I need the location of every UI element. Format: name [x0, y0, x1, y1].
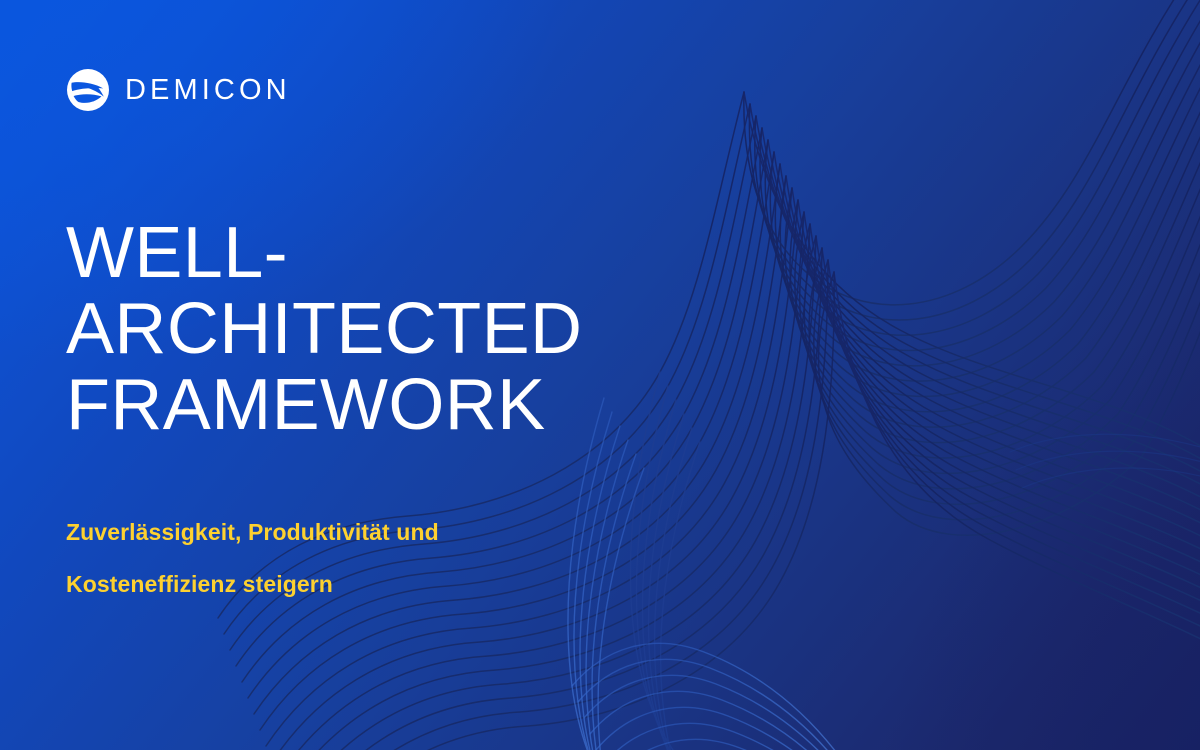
- demicon-circle-arrow-logo-icon: [66, 68, 110, 112]
- brand-wordmark: DEMICON: [125, 76, 291, 105]
- title-slide: DEMICON WELL- ARCHITECTED FRAMEWORK Zuve…: [0, 0, 1200, 750]
- slide-title: WELL- ARCHITECTED FRAMEWORK: [66, 216, 686, 444]
- slide-subtitle: Zuverlässigkeit, Produktivität und Koste…: [66, 506, 666, 611]
- slide-subtitle-line-2: Kosteneffizienz steigern: [66, 558, 666, 610]
- slide-title-line-3: FRAMEWORK: [66, 368, 686, 444]
- slide-subtitle-line-1: Zuverlässigkeit, Produktivität und: [66, 506, 666, 558]
- slide-title-line-2: ARCHITECTED: [66, 292, 686, 368]
- slide-title-line-1: WELL-: [66, 216, 686, 292]
- brand-logo-lockup: DEMICON: [66, 68, 291, 112]
